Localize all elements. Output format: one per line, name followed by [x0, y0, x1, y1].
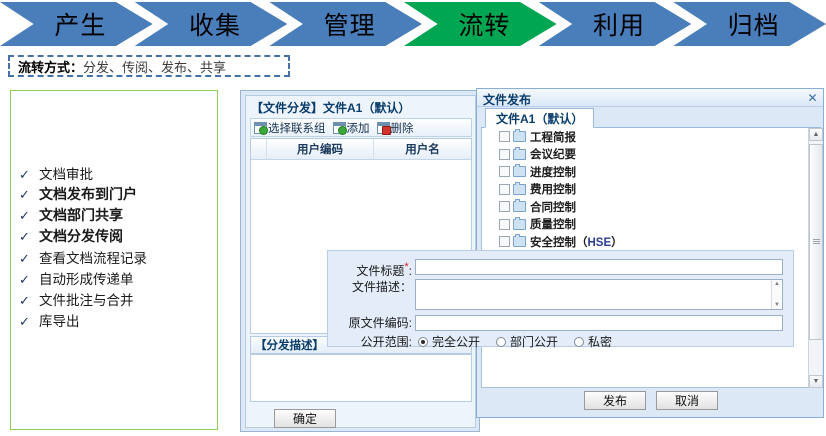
- tree-node-label: 合同控制: [530, 199, 576, 215]
- process-step-label: 流转: [458, 6, 510, 42]
- required-marker: *: [404, 261, 408, 273]
- check-icon: ✓: [19, 312, 39, 332]
- publish-button[interactable]: 发布: [584, 391, 646, 410]
- add-group-icon: [254, 122, 267, 134]
- tree-node[interactable]: 合同控制: [482, 198, 820, 216]
- tree-checkbox[interactable]: [499, 219, 510, 230]
- feature-item: ✓文档分发传阅: [19, 226, 215, 246]
- feature-item: ✓文档发布到门户: [19, 184, 215, 204]
- scope-radio-option[interactable]: 完全公开: [418, 333, 480, 350]
- folder-icon: [513, 236, 526, 247]
- publish-form-dialog: 文件标题*: 文件描述： ▲ ▼ 原文件编码: 公开范围: 完全公开部门公开私密: [327, 250, 794, 347]
- publish-tabbar: 文件A1（默认）: [481, 108, 821, 128]
- publish-button-bar: 发布取消: [481, 389, 821, 411]
- feature-item-label: 查看文档流程记录: [39, 247, 147, 267]
- feature-list-panel: ✓文档审批✓文档发布到门户✓文档部门共享✓文档分发传阅✓查看文档流程记录✓自动形…: [10, 90, 218, 430]
- plus-badge-icon: [259, 126, 268, 135]
- plus-badge-icon: [338, 126, 347, 135]
- tree-node-label: 会议纪要: [530, 146, 576, 162]
- scope-radio-option[interactable]: 部门公开: [496, 333, 558, 350]
- tree-node-label: 工程简报: [530, 129, 576, 145]
- public-scope-radio-group: 完全公开部门公开私密: [418, 333, 628, 350]
- feature-item-label: 库导出: [39, 310, 80, 330]
- folder-icon: [513, 131, 526, 142]
- process-step-2[interactable]: 收集: [135, 2, 288, 46]
- original-file-code-input[interactable]: [415, 315, 783, 331]
- form-row-scope: 公开范围: 完全公开部门公开私密: [336, 333, 628, 350]
- file-distribute-toolbar: 选择联系组添加删除: [250, 118, 472, 137]
- process-step-4[interactable]: 流转: [404, 2, 557, 46]
- file-description-textarea[interactable]: ▲ ▼: [415, 279, 783, 310]
- tree-node-label: 进度控制: [530, 164, 576, 180]
- tree-checkbox[interactable]: [499, 166, 510, 177]
- tree-node-label: 质量控制: [530, 216, 576, 232]
- process-step-6[interactable]: 归档: [673, 2, 826, 46]
- check-icon: ✓: [19, 291, 39, 311]
- radio-button-icon[interactable]: [496, 337, 506, 347]
- feature-list: ✓文档审批✓文档发布到门户✓文档部门共享✓文档分发传阅✓查看文档流程记录✓自动形…: [19, 163, 215, 331]
- scope-radio-option[interactable]: 私密: [574, 333, 612, 350]
- cancel-button[interactable]: 取消: [656, 391, 718, 410]
- radio-button-icon[interactable]: [574, 337, 584, 347]
- toolbar-button-label: 选择联系组: [268, 120, 326, 136]
- file-description-label: 文件描述：: [336, 279, 412, 295]
- folder-icon: [513, 166, 526, 177]
- tree-checkbox[interactable]: [499, 149, 510, 160]
- scope-radio-label: 私密: [588, 333, 612, 350]
- remove-badge-icon: [382, 126, 391, 135]
- process-step-label: 归档: [728, 6, 780, 42]
- tab-file-a1[interactable]: 文件A1（默认）: [485, 108, 594, 128]
- process-step-label: 收集: [189, 6, 241, 42]
- public-scope-label: 公开范围:: [336, 334, 412, 350]
- tree-node[interactable]: 会议纪要: [482, 146, 820, 164]
- desc-scroll-down-icon[interactable]: ▼: [774, 302, 780, 308]
- tree-node[interactable]: 进度控制: [482, 163, 820, 181]
- process-step-1[interactable]: 产生: [0, 2, 153, 46]
- file-distribute-title: 【文件分发】文件A1（默认）: [251, 99, 410, 116]
- process-step-banner: 产生收集管理流转利用归档: [0, 2, 826, 46]
- flow-method-note: 流转方式： 分发、传阅、发布、共享: [8, 55, 290, 77]
- original-file-code-label: 原文件编码:: [336, 315, 412, 331]
- feature-item-label: 自动形成传递单: [39, 268, 134, 288]
- tree-node-label: 费用控制: [530, 181, 576, 197]
- description-scrollbar[interactable]: ▲ ▼: [771, 280, 782, 309]
- feature-item-label: 文档发布到门户: [39, 184, 137, 204]
- folder-icon: [513, 201, 526, 212]
- check-icon: ✓: [19, 206, 39, 226]
- tree-checkbox[interactable]: [499, 184, 510, 195]
- confirm-button[interactable]: 确定: [274, 409, 336, 428]
- scroll-down-icon[interactable]: ▼: [809, 375, 823, 388]
- feature-item-label: 文件批注与合并: [39, 289, 134, 309]
- form-row-original-code: 原文件编码:: [336, 315, 783, 331]
- file-title-label: 文件标题*:: [336, 259, 412, 279]
- user-grid-header: 用户编码 用户名: [251, 139, 471, 160]
- tree-node[interactable]: 安全控制（HSE）: [482, 233, 820, 251]
- grid-header-usercode: 用户编码: [267, 139, 374, 159]
- flow-note-strong: 流转方式：: [18, 57, 83, 76]
- feature-item-label: 文档审批: [39, 163, 93, 183]
- feature-item: ✓自动形成传递单: [19, 268, 215, 288]
- radio-button-icon[interactable]: [418, 337, 428, 347]
- form-row-title: 文件标题*:: [336, 259, 783, 279]
- file-title-label-text: 文件标题: [356, 264, 404, 278]
- folder-icon: [513, 184, 526, 195]
- tree-checkbox[interactable]: [499, 236, 510, 247]
- toolbar-add-group-button[interactable]: 选择联系组: [254, 120, 326, 136]
- desc-scroll-up-icon[interactable]: ▲: [774, 281, 780, 287]
- feature-item: ✓文件批注与合并: [19, 289, 215, 309]
- close-icon[interactable]: ✕: [806, 91, 819, 104]
- feature-item: ✓查看文档流程记录: [19, 247, 215, 267]
- distribute-description-input[interactable]: [250, 354, 472, 402]
- tree-node-label: 安全控制（HSE）: [530, 234, 623, 250]
- feature-item: ✓文档审批: [19, 163, 215, 183]
- folder-icon: [513, 149, 526, 160]
- scroll-up-icon[interactable]: ▲: [809, 128, 823, 141]
- toolbar-delete-button[interactable]: 删除: [377, 120, 414, 136]
- feature-item: ✓库导出: [19, 310, 215, 330]
- tree-checkbox[interactable]: [499, 201, 510, 212]
- toolbar-button-label: 删除: [391, 120, 414, 136]
- scope-radio-label: 部门公开: [510, 333, 558, 350]
- check-icon: ✓: [19, 185, 39, 205]
- scrollbar-grip: [813, 239, 820, 245]
- feature-item-label: 文档部门共享: [39, 205, 123, 225]
- flow-note-rest: 分发、传阅、发布、共享: [83, 57, 226, 76]
- process-step-label: 产生: [54, 6, 106, 42]
- tree-checkbox[interactable]: [499, 131, 510, 142]
- feature-item: ✓文档部门共享: [19, 205, 215, 225]
- tree-node[interactable]: 工程简报: [482, 128, 820, 146]
- check-icon: ✓: [19, 249, 39, 269]
- folder-icon: [513, 219, 526, 230]
- process-step-5[interactable]: 利用: [539, 2, 692, 46]
- publish-tree-scrollbar[interactable]: ▲ ▼: [808, 128, 822, 388]
- check-icon: ✓: [19, 165, 39, 185]
- grid-header-select: [251, 139, 267, 159]
- delete-icon: [377, 122, 390, 134]
- tree-node[interactable]: 费用控制: [482, 181, 820, 199]
- toolbar-button-label: 添加: [347, 120, 370, 136]
- publish-window-title: 文件发布: [483, 91, 531, 108]
- process-step-label: 利用: [593, 6, 645, 42]
- scrollbar-thumb[interactable]: [809, 144, 823, 340]
- tree-node[interactable]: 质量控制: [482, 216, 820, 234]
- file-title-input[interactable]: [415, 259, 783, 275]
- scope-radio-label: 完全公开: [432, 333, 480, 350]
- toolbar-add-button[interactable]: 添加: [333, 120, 370, 136]
- form-row-description: 文件描述： ▲ ▼: [336, 279, 783, 310]
- check-icon: ✓: [19, 227, 39, 247]
- publish-titlebar: 文件发布 ✕: [477, 89, 823, 107]
- grid-header-username: 用户名: [374, 139, 471, 159]
- feature-item-label: 文档分发传阅: [39, 226, 123, 246]
- process-step-label: 管理: [324, 6, 376, 42]
- check-icon: ✓: [19, 270, 39, 290]
- process-step-3[interactable]: 管理: [269, 2, 422, 46]
- add-icon: [333, 122, 346, 134]
